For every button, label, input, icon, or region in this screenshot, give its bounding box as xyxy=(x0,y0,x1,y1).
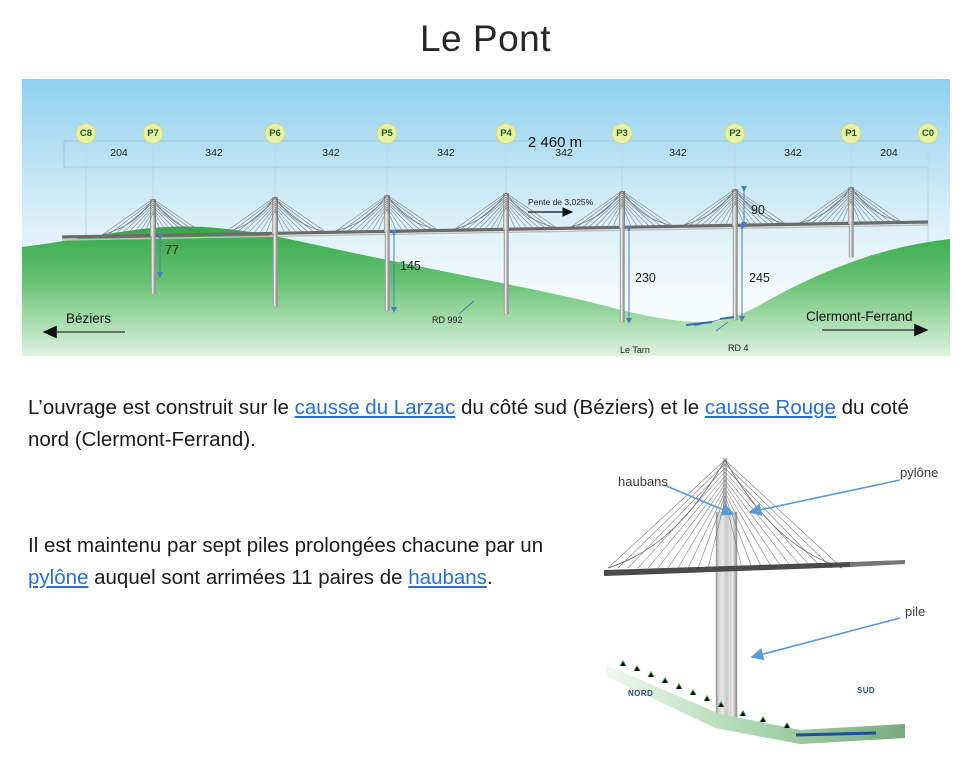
pier-marker-c8: C8 xyxy=(76,123,97,144)
span-label-1: 204 xyxy=(110,147,128,159)
pier-marker-p7: P7 xyxy=(143,123,164,144)
slide-root: Le Pont xyxy=(0,0,971,760)
pier-marker-c0: C0 xyxy=(918,123,939,144)
span-label-8: 204 xyxy=(880,147,898,159)
water-line xyxy=(796,733,876,735)
pier-marker-p2: P2 xyxy=(725,123,746,144)
height-label-77: 77 xyxy=(165,243,179,257)
page-title: Le Pont xyxy=(0,18,971,60)
link-haubans[interactable]: haubans xyxy=(408,566,487,589)
river-label-le-tarn: Le Tarn xyxy=(620,345,650,355)
span-label-3: 342 xyxy=(322,147,340,159)
paragraph-construction: L’ouvrage est construit sur le causse du… xyxy=(28,392,933,456)
para1-segment-1: L’ouvrage est construit sur le xyxy=(28,396,295,419)
height-label-245: 245 xyxy=(749,271,770,285)
span-label-5: 342 xyxy=(555,147,573,159)
link-causse-rouge[interactable]: causse Rouge xyxy=(705,396,836,419)
pier-marker-p3: P3 xyxy=(612,123,633,144)
bridge-elevation-figure: C8 P7 P6 P5 P4 P3 P2 P1 C0 2 460 m 204 3… xyxy=(22,79,950,356)
terrain-profile xyxy=(22,227,950,356)
compass-label-nord: NORD xyxy=(628,689,653,698)
pier-marker-p1: P1 xyxy=(841,123,862,144)
height-label-230: 230 xyxy=(635,271,656,285)
pylon-detail-figure: haubans pylône pile NORD SUD xyxy=(600,452,966,757)
compass-label-sud: SUD xyxy=(857,686,875,695)
height-label-90: 90 xyxy=(751,203,765,217)
callout-label-pylone: pylône xyxy=(900,465,938,480)
span-label-4: 342 xyxy=(437,147,455,159)
height-label-145: 145 xyxy=(400,259,421,273)
direction-label-beziers: Béziers xyxy=(66,311,111,326)
pier-marker-p4: P4 xyxy=(496,123,517,144)
road-label-rd4: RD 4 xyxy=(728,343,749,353)
slope-label: Pente de 3,025% xyxy=(528,197,593,207)
span-label-6: 342 xyxy=(669,147,687,159)
para2-segment-3: . xyxy=(487,566,493,589)
paragraph-structure: Il est maintenu par sept piles prolongée… xyxy=(28,530,573,594)
pier-marker-p6: P6 xyxy=(265,123,286,144)
callout-label-pile: pile xyxy=(905,604,925,619)
direction-label-clermont-ferrand: Clermont-Ferrand xyxy=(806,309,913,324)
callout-label-haubans: haubans xyxy=(618,474,668,489)
pier-marker-p5: P5 xyxy=(377,123,398,144)
link-pylone[interactable]: pylône xyxy=(28,566,88,589)
span-label-2: 342 xyxy=(205,147,223,159)
link-causse-du-larzac[interactable]: causse du Larzac xyxy=(295,396,456,419)
span-label-7: 342 xyxy=(784,147,802,159)
road-label-rd992: RD 992 xyxy=(432,315,463,325)
para2-segment-2: auquel sont arrimées 11 paires de xyxy=(88,566,408,589)
para1-segment-2: du côté sud (Béziers) et le xyxy=(455,396,705,419)
para2-segment-1: Il est maintenu par sept piles prolongée… xyxy=(28,534,543,557)
